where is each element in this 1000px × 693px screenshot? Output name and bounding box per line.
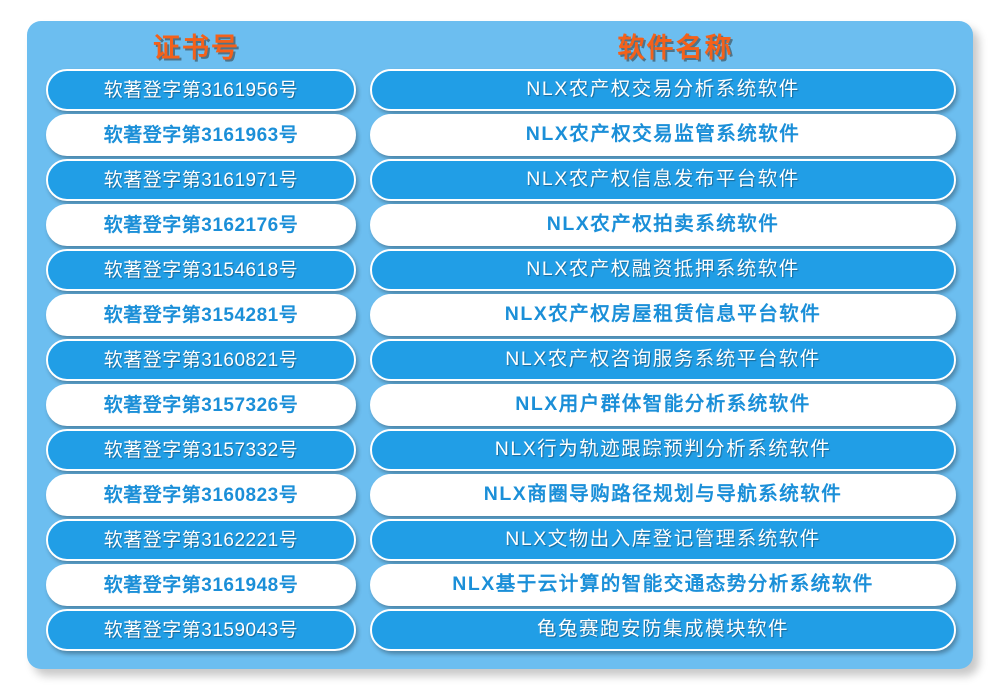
- column-header-certificate-no: 证书号: [27, 21, 366, 69]
- table-row[interactable]: 软著登字第3161948号NLX基于云计算的智能交通态势分析系统软件: [27, 564, 973, 606]
- certificate-no-text: 软著登字第3161956号: [104, 81, 298, 100]
- column-gap: [356, 204, 370, 246]
- cell-certificate-no[interactable]: 软著登字第3154618号: [46, 249, 356, 291]
- table-row[interactable]: 软著登字第3162221号NLX文物出入库登记管理系统软件: [27, 519, 973, 561]
- software-copyright-table-card: 证书号 软件名称 软著登字第3161956号NLX农产权交易分析系统软件软著登字…: [27, 21, 973, 669]
- cell-certificate-no[interactable]: 软著登字第3162176号: [46, 204, 356, 246]
- column-gap: [356, 114, 370, 156]
- certificate-no-text: 软著登字第3157332号: [104, 441, 298, 460]
- cell-certificate-no[interactable]: 软著登字第3160821号: [46, 339, 356, 381]
- column-gap: [356, 249, 370, 291]
- certificate-no-text: 软著登字第3162176号: [104, 216, 298, 235]
- table-row[interactable]: 软著登字第3161971号NLX农产权信息发布平台软件: [27, 159, 973, 201]
- table-row[interactable]: 软著登字第3157332号NLX行为轨迹跟踪预判分析系统软件: [27, 429, 973, 471]
- cell-certificate-no[interactable]: 软著登字第3157332号: [46, 429, 356, 471]
- cell-software-name[interactable]: NLX行为轨迹跟踪预判分析系统软件: [370, 429, 956, 471]
- software-name-text: NLX用户群体智能分析系统软件: [515, 395, 811, 415]
- certificate-no-text: 软著登字第3154281号: [104, 306, 298, 325]
- cell-software-name[interactable]: NLX农产权房屋租赁信息平台软件: [370, 294, 956, 336]
- table-row[interactable]: 软著登字第3154281号NLX农产权房屋租赁信息平台软件: [27, 294, 973, 336]
- cell-software-name[interactable]: 龟兔赛跑安防集成模块软件: [370, 609, 956, 651]
- certificate-no-text: 软著登字第3161971号: [104, 171, 298, 190]
- table-row[interactable]: 软著登字第3160821号NLX农产权咨询服务系统平台软件: [27, 339, 973, 381]
- certificate-no-text: 软著登字第3159043号: [104, 621, 298, 640]
- software-name-text: NLX农产权信息发布平台软件: [526, 170, 799, 190]
- table-row[interactable]: 软著登字第3161963号NLX农产权交易监管系统软件: [27, 114, 973, 156]
- software-name-text: NLX农产权拍卖系统软件: [547, 215, 780, 235]
- cell-software-name[interactable]: NLX农产权信息发布平台软件: [370, 159, 956, 201]
- certificate-no-text: 软著登字第3160821号: [104, 351, 298, 370]
- cell-software-name[interactable]: NLX农产权交易监管系统软件: [370, 114, 956, 156]
- table-row[interactable]: 软著登字第3161956号NLX农产权交易分析系统软件: [27, 69, 973, 111]
- table-row[interactable]: 软著登字第3157326号NLX用户群体智能分析系统软件: [27, 384, 973, 426]
- software-name-text: NLX农产权交易监管系统软件: [526, 125, 801, 145]
- table-row[interactable]: 软著登字第3159043号龟兔赛跑安防集成模块软件: [27, 609, 973, 651]
- cell-certificate-no[interactable]: 软著登字第3161971号: [46, 159, 356, 201]
- software-name-text: NLX基于云计算的智能交通态势分析系统软件: [452, 575, 874, 595]
- certificate-no-text: 软著登字第3162221号: [104, 531, 298, 550]
- cell-software-name[interactable]: NLX用户群体智能分析系统软件: [370, 384, 956, 426]
- software-name-text: NLX商圈导购路径规划与导航系统软件: [484, 485, 843, 505]
- column-gap: [356, 429, 370, 471]
- column-header-gap: [366, 21, 378, 69]
- table-header-row: 证书号 软件名称: [27, 21, 973, 69]
- software-name-text: NLX文物出入库登记管理系统软件: [505, 530, 820, 550]
- software-name-text: NLX行为轨迹跟踪预判分析系统软件: [495, 440, 831, 460]
- table-row[interactable]: 软著登字第3162176号NLX农产权拍卖系统软件: [27, 204, 973, 246]
- software-name-text: 龟兔赛跑安防集成模块软件: [537, 620, 789, 640]
- column-gap: [356, 159, 370, 201]
- certificate-no-text: 软著登字第3161948号: [104, 576, 298, 595]
- column-gap: [356, 519, 370, 561]
- cell-certificate-no[interactable]: 软著登字第3161956号: [46, 69, 356, 111]
- table-rows-container: 软著登字第3161956号NLX农产权交易分析系统软件软著登字第3161963号…: [27, 69, 973, 669]
- software-name-text: NLX农产权融资抵押系统软件: [526, 260, 799, 280]
- table-row[interactable]: 软著登字第3154618号NLX农产权融资抵押系统软件: [27, 249, 973, 291]
- column-gap: [356, 384, 370, 426]
- cell-software-name[interactable]: NLX商圈导购路径规划与导航系统软件: [370, 474, 956, 516]
- software-name-text: NLX农产权咨询服务系统平台软件: [505, 350, 820, 370]
- software-name-text: NLX农产权房屋租赁信息平台软件: [505, 305, 822, 325]
- cell-software-name[interactable]: NLX农产权交易分析系统软件: [370, 69, 956, 111]
- certificate-no-text: 软著登字第3154618号: [104, 261, 298, 280]
- column-gap: [356, 294, 370, 336]
- cell-software-name[interactable]: NLX基于云计算的智能交通态势分析系统软件: [370, 564, 956, 606]
- cell-software-name[interactable]: NLX农产权融资抵押系统软件: [370, 249, 956, 291]
- certificate-no-text: 软著登字第3157326号: [104, 396, 298, 415]
- cell-certificate-no[interactable]: 软著登字第3154281号: [46, 294, 356, 336]
- certificate-no-text: 软著登字第3161963号: [104, 126, 298, 145]
- cell-certificate-no[interactable]: 软著登字第3160823号: [46, 474, 356, 516]
- cell-software-name[interactable]: NLX农产权拍卖系统软件: [370, 204, 956, 246]
- cell-software-name[interactable]: NLX文物出入库登记管理系统软件: [370, 519, 956, 561]
- column-gap: [356, 564, 370, 606]
- cell-certificate-no[interactable]: 软著登字第3162221号: [46, 519, 356, 561]
- column-gap: [356, 609, 370, 651]
- column-header-software-name: 软件名称: [378, 21, 973, 69]
- certificate-no-text: 软著登字第3160823号: [104, 486, 298, 505]
- cell-software-name[interactable]: NLX农产权咨询服务系统平台软件: [370, 339, 956, 381]
- column-gap: [356, 474, 370, 516]
- cell-certificate-no[interactable]: 软著登字第3161963号: [46, 114, 356, 156]
- table-row[interactable]: 软著登字第3160823号NLX商圈导购路径规划与导航系统软件: [27, 474, 973, 516]
- cell-certificate-no[interactable]: 软著登字第3161948号: [46, 564, 356, 606]
- software-name-text: NLX农产权交易分析系统软件: [526, 80, 799, 100]
- column-gap: [356, 339, 370, 381]
- cell-certificate-no[interactable]: 软著登字第3157326号: [46, 384, 356, 426]
- cell-certificate-no[interactable]: 软著登字第3159043号: [46, 609, 356, 651]
- column-gap: [356, 69, 370, 111]
